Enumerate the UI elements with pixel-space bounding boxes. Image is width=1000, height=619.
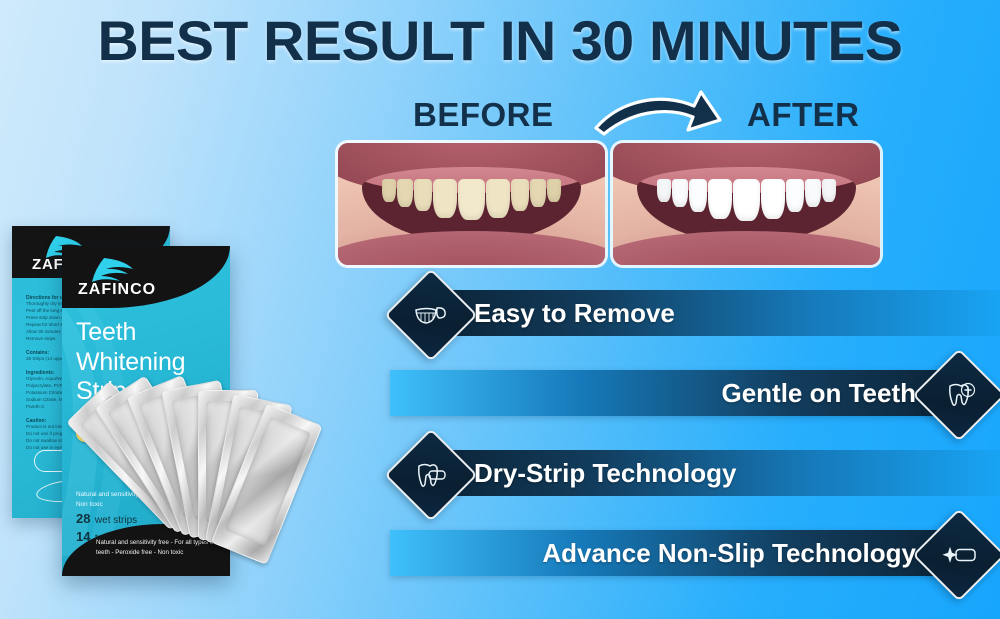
feature-row-advance-non-slip-technology[interactable]: Advance Non-Slip Technology bbox=[390, 522, 1000, 584]
after-photo bbox=[613, 143, 880, 265]
foil-strip-packets bbox=[150, 362, 390, 612]
feature-badge bbox=[384, 428, 477, 521]
feature-badge bbox=[384, 268, 477, 361]
before-after-labels: BEFORE AFTER bbox=[335, 96, 880, 142]
feature-label: Dry-Strip Technology bbox=[474, 450, 736, 496]
feature-label: Easy to Remove bbox=[474, 290, 675, 336]
teeth-row-before bbox=[371, 179, 572, 223]
feature-label: Gentle on Teeth bbox=[721, 370, 916, 416]
tooth-with-strip-icon bbox=[400, 444, 462, 506]
after-label: AFTER bbox=[747, 96, 860, 134]
feature-row-dry-strip-technology[interactable]: Dry-Strip Technology bbox=[390, 442, 1000, 504]
feature-row-easy-to-remove[interactable]: Easy to Remove bbox=[390, 282, 1000, 344]
curved-arrow-right-icon bbox=[590, 84, 730, 146]
teeth-row-after bbox=[646, 179, 847, 223]
tooth-with-plus-shield-icon bbox=[928, 364, 990, 426]
svg-text:ZAFINCO: ZAFINCO bbox=[78, 281, 156, 298]
page-title: BEST RESULT IN 30 MINUTES bbox=[0, 8, 1000, 73]
before-label: BEFORE bbox=[413, 96, 554, 134]
before-after-photos bbox=[338, 143, 880, 265]
feature-label: Advance Non-Slip Technology bbox=[542, 530, 916, 576]
strips-count: 28 bbox=[76, 511, 90, 526]
feature-badge bbox=[912, 508, 1000, 601]
feature-badge bbox=[912, 348, 1000, 441]
promo-banner: BEST RESULT IN 30 MINUTES BEFORE AFTER bbox=[0, 0, 1000, 619]
feature-row-gentle-on-teeth[interactable]: Gentle on Teeth bbox=[390, 362, 1000, 424]
strips-label: wet strips bbox=[95, 515, 137, 526]
smile-with-peeling-strip-icon bbox=[400, 284, 462, 346]
before-photo bbox=[338, 143, 605, 265]
sparkle-strip-icon bbox=[928, 524, 990, 586]
feature-list: Easy to Remove Gentle on Teeth bbox=[390, 282, 1000, 614]
brand-logo-front: ZAFINCO bbox=[76, 254, 192, 303]
